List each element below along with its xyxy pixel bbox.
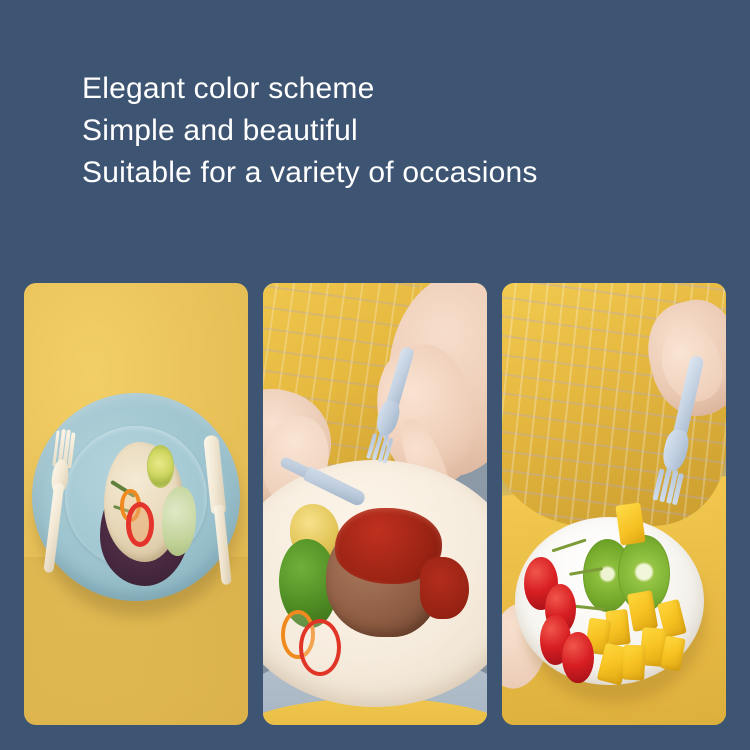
product-photo-gallery	[24, 283, 726, 725]
photo-fruit-plate	[502, 283, 726, 725]
photo-blue-plate	[24, 283, 248, 725]
lettuce-garnish	[162, 487, 196, 556]
headline-line-1: Elegant color scheme	[82, 68, 682, 110]
gallery-panel-steak[interactable]	[263, 283, 487, 725]
headline-block: Elegant color scheme Simple and beautifu…	[82, 68, 682, 194]
photo-steak-cutting	[263, 283, 487, 725]
gallery-panel-blue-plate[interactable]	[24, 283, 248, 725]
cherry	[562, 632, 593, 683]
plated-fish-dish	[98, 442, 192, 592]
headline-line-2: Simple and beautiful	[82, 110, 682, 152]
sauce-drip	[420, 557, 469, 619]
gallery-panel-fruit[interactable]	[502, 283, 726, 725]
lime-slice	[147, 445, 174, 488]
headline-line-3: Suitable for a variety of occasions	[82, 152, 682, 194]
fork-neck	[659, 427, 691, 473]
mango-cube	[622, 645, 646, 681]
